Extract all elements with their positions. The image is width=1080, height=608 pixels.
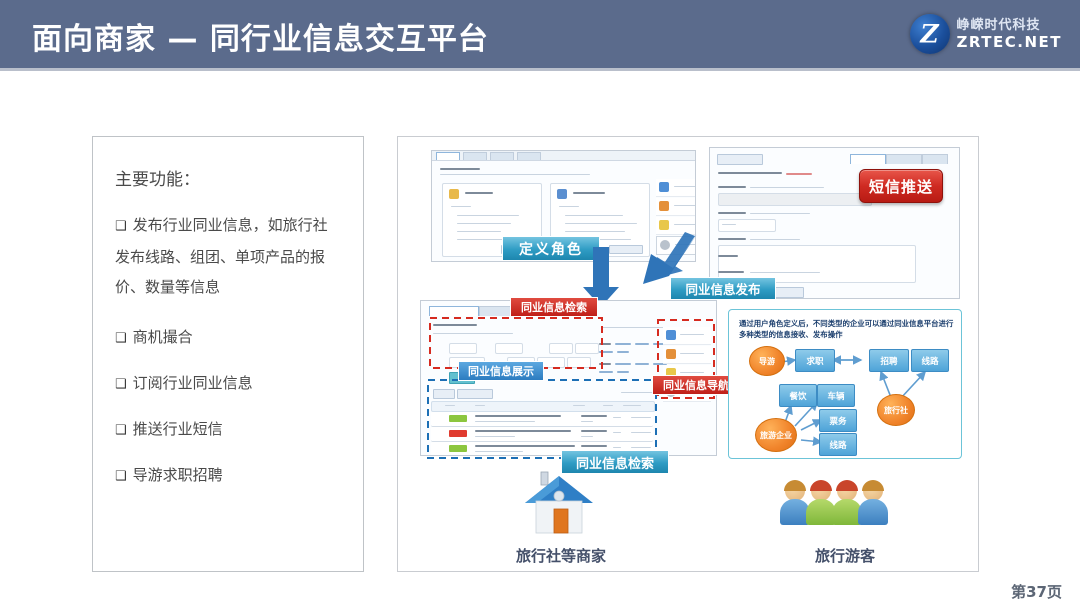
features-panel: 主要功能： ❑发布行业同业信息，如旅行社发布线路、组团、单项产品的报价、数量等信… xyxy=(92,136,364,572)
features-title: 主要功能： xyxy=(115,165,341,190)
node-box-catering: 餐饮 xyxy=(779,384,817,407)
feature-item-label: 推送行业短信 xyxy=(133,420,223,438)
house-icon xyxy=(523,469,595,535)
feature-item: ❑订阅行业同业信息 xyxy=(115,368,341,400)
sms-push-button[interactable]: 短信推送 xyxy=(859,169,943,203)
checkbox-bullet-icon: ❑ xyxy=(115,331,127,346)
feature-item-label: 商机撮合 xyxy=(133,328,193,346)
feature-item: ❑商机撮合 xyxy=(115,322,341,354)
callout-label: 定义角色 xyxy=(519,239,583,259)
node-oval-tourism-enterprise: 旅游企业 xyxy=(755,418,797,452)
screenshot-tabbar xyxy=(432,151,695,161)
screenshot-tab xyxy=(463,152,487,160)
person-icon xyxy=(858,481,888,525)
logo-text: 峥嵘时代科技 ZRTEC.NET xyxy=(957,19,1062,50)
page-number: 第37页 xyxy=(1011,581,1062,602)
checkbox-bullet-icon: ❑ xyxy=(115,423,127,438)
callout-info-nav: 同业信息导航 xyxy=(652,375,740,395)
feature-item-label: 导游求职招聘 xyxy=(133,466,223,484)
screenshot-side-item xyxy=(656,179,696,197)
checkbox-bullet-icon: ❑ xyxy=(115,469,127,484)
node-box-ticketing: 票务 xyxy=(819,409,857,432)
company-logo: 峥嵘时代科技 ZRTEC.NET xyxy=(910,8,1062,60)
actor-label-tourist: 旅行游客 xyxy=(775,545,915,566)
feature-item-label: 发布行业同业信息，如旅行社发布线路、组团、单项产品的报价、数量等信息 xyxy=(115,216,328,296)
actor-label-text: 旅行游客 xyxy=(815,547,875,565)
people-group-icon xyxy=(780,473,910,525)
node-oval-guide: 导游 xyxy=(749,346,785,376)
node-box-vehicle: 车辆 xyxy=(817,384,855,407)
role-relationship-diagram: 通过用户角色定义后，不同类型的企业可以通过同业信息平台进行多种类型的信息接收、发… xyxy=(728,309,962,459)
node-box-route-bottom: 线路 xyxy=(819,433,857,456)
node-label: 票务 xyxy=(829,415,846,427)
node-box-job-seeking: 求职 xyxy=(795,349,835,372)
checkbox-bullet-icon: ❑ xyxy=(115,219,127,234)
feature-item-label: 订阅行业同业信息 xyxy=(133,374,253,392)
node-label: 线路 xyxy=(921,355,938,367)
node-box-recruitment: 招聘 xyxy=(869,349,909,372)
node-label: 餐饮 xyxy=(789,390,806,402)
callout-info-display: 同业信息展示 xyxy=(458,361,544,381)
screenshot-tab xyxy=(436,152,460,160)
callout-label: 同业信息检索 xyxy=(521,299,587,315)
page-header: 面向商家 — 同行业信息交互平台 峥嵘时代科技 ZRTEC.NET xyxy=(0,0,1080,68)
checkbox-bullet-icon: ❑ xyxy=(115,377,127,392)
node-oval-travel-agency: 旅行社 xyxy=(877,394,915,426)
screenshot-side-item xyxy=(656,198,696,216)
node-label: 旅行社 xyxy=(884,406,908,415)
actor-label-merchant: 旅行社等商家 xyxy=(491,545,631,566)
feature-item: ❑导游求职招聘 xyxy=(115,460,341,492)
screenshot-tab xyxy=(517,152,541,160)
callout-info-search-red: 同业信息检索 xyxy=(510,297,598,317)
node-label: 招聘 xyxy=(880,355,897,367)
header-divider xyxy=(0,68,1080,71)
logo-english-name: ZRTEC.NET xyxy=(957,35,1062,50)
callout-label: 同业信息导航 xyxy=(663,377,729,393)
node-label: 旅游企业 xyxy=(760,431,792,440)
actor-label-text: 旅行社等商家 xyxy=(516,547,606,565)
feature-item: ❑发布行业同业信息，如旅行社发布线路、组团、单项产品的报价、数量等信息 xyxy=(115,210,341,302)
zrtec-logo-icon xyxy=(910,14,950,54)
page-title: 面向商家 — 同行业信息交互平台 xyxy=(32,14,489,58)
node-label: 导游 xyxy=(759,357,775,366)
node-label: 求职 xyxy=(806,355,823,367)
sms-push-label: 短信推送 xyxy=(869,176,933,197)
node-label: 线路 xyxy=(829,439,846,451)
diagram-panel: 定义角色 xyxy=(397,136,979,572)
node-box-route-top: 线路 xyxy=(911,349,949,372)
logo-chinese-name: 峥嵘时代科技 xyxy=(957,19,1062,32)
feature-item: ❑推送行业短信 xyxy=(115,414,341,446)
screenshot-tab xyxy=(490,152,514,160)
node-label: 车辆 xyxy=(827,390,844,402)
callout-label: 同业信息展示 xyxy=(468,363,534,379)
